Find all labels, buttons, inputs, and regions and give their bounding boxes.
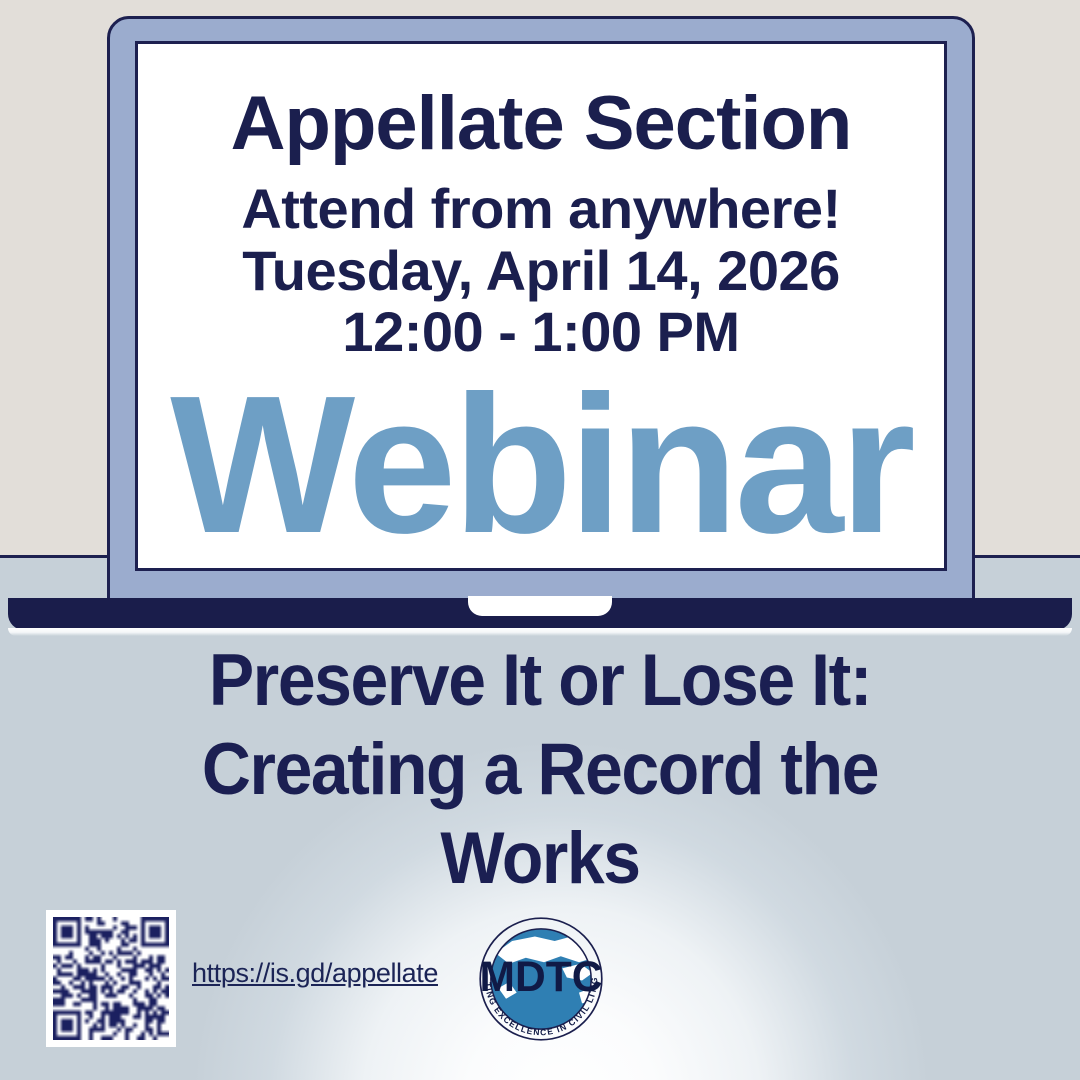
logo-acronym: MDTC xyxy=(480,953,603,1001)
event-time: 12:00 - 1:00 PM xyxy=(138,301,944,363)
attendance-note: Attend from anywhere! xyxy=(138,162,944,240)
event-date: Tuesday, April 14, 2026 xyxy=(138,240,944,302)
mdtc-logo: MDTC PROMOTING EXCELLENCE IN CIVIL LITIG… xyxy=(465,903,617,1055)
laptop-screen: Appellate Section Attend from anywhere! … xyxy=(135,41,947,571)
page-title: Appellate Section xyxy=(138,44,944,162)
session-title-line-3: Works xyxy=(38,814,1042,903)
session-title-line-1: Preserve It or Lose It: xyxy=(38,636,1042,725)
qr-code-image xyxy=(53,917,169,1040)
session-title-line-2: Creating a Record the xyxy=(38,725,1042,814)
screen-content: Appellate Section Attend from anywhere! … xyxy=(138,44,944,563)
laptop-trackpad-notch xyxy=(468,596,612,616)
laptop-base-highlight xyxy=(8,628,1072,636)
session-title: Preserve It or Lose It: Creating a Recor… xyxy=(38,636,1042,903)
registration-link[interactable]: https://is.gd/appellate xyxy=(190,958,440,989)
event-type-word: Webinar xyxy=(138,363,944,563)
webinar-poster: Appellate Section Attend from anywhere! … xyxy=(0,0,1080,1080)
qr-code[interactable] xyxy=(46,910,176,1047)
